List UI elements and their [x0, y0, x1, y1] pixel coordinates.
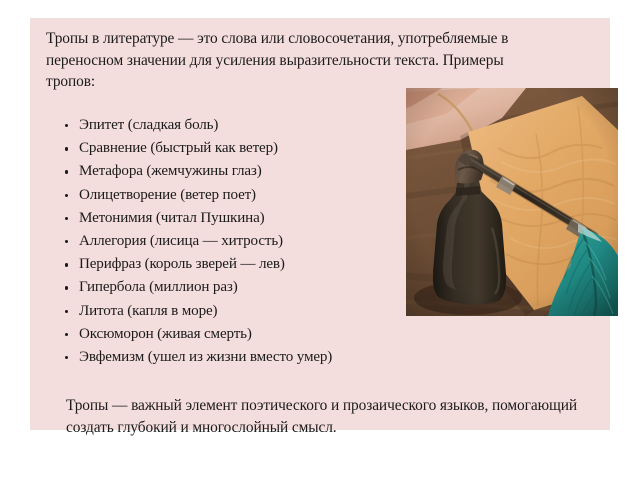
list-item: Перифраз (король зверей — лев) — [64, 253, 454, 276]
list-item-label: Сравнение (быстрый как ветер) — [79, 140, 278, 156]
list-item-label: Эпитет (сладкая боль) — [79, 117, 218, 133]
list-item-label: Олицетворение (ветер поет) — [79, 187, 256, 203]
list-item: Олицетворение (ветер поет) — [64, 184, 454, 207]
bullet-dot-icon — [65, 217, 68, 220]
list-item: Метонимия (читал Пушкина) — [64, 207, 454, 230]
bullet-dot-icon — [65, 147, 68, 150]
bullet-dot-icon — [65, 263, 68, 266]
list-item-label: Оксюморон (живая смерть) — [79, 326, 252, 342]
list-item: Эвфемизм (ушел из жизни вместо умер) — [64, 346, 454, 369]
bullet-dot-icon — [65, 356, 68, 359]
list-item-label: Перифраз (король зверей — лев) — [79, 256, 285, 272]
list-item: Гипербола (миллион раз) — [64, 276, 454, 299]
list-item-label: Метафора (жемчужины глаз) — [79, 163, 262, 179]
list-item-label: Литота (капля в море) — [79, 303, 217, 319]
list-item: Сравнение (быстрый как ветер) — [64, 137, 454, 160]
bullet-dot-icon — [65, 286, 68, 289]
bullet-dot-icon — [65, 310, 68, 313]
list-item: Оксюморон (живая смерть) — [64, 323, 454, 346]
list-item: Метафора (жемчужины глаз) — [64, 160, 454, 183]
closing-paragraph: Тропы — важный элемент поэтического и пр… — [66, 395, 626, 438]
bullet-dot-icon — [65, 240, 68, 243]
list-item: Литота (капля в море) — [64, 300, 454, 323]
list-item: Аллегория (лисица — хитрость) — [64, 230, 454, 253]
list-item-label: Аллегория (лисица — хитрость) — [79, 233, 283, 249]
bullet-dot-icon — [65, 170, 68, 173]
list-item-label: Гипербола (миллион раз) — [79, 279, 238, 295]
trope-list: Эпитет (сладкая боль) Сравнение (быстрый… — [64, 114, 454, 369]
bullet-dot-icon — [65, 124, 68, 127]
list-item-label: Эвфемизм (ушел из жизни вместо умер) — [79, 349, 332, 365]
bullet-dot-icon — [65, 333, 68, 336]
bullet-dot-icon — [65, 194, 68, 197]
list-item: Эпитет (сладкая боль) — [64, 114, 454, 137]
list-item-label: Метонимия (читал Пушкина) — [79, 210, 265, 226]
slide-canvas: Тропы в литературе — это слова или слово… — [0, 0, 640, 480]
intro-paragraph: Тропы в литературе — это слова или слово… — [46, 28, 546, 93]
quill-pen-and-inkwell-photo — [406, 88, 618, 316]
photo-illustration — [406, 88, 618, 316]
